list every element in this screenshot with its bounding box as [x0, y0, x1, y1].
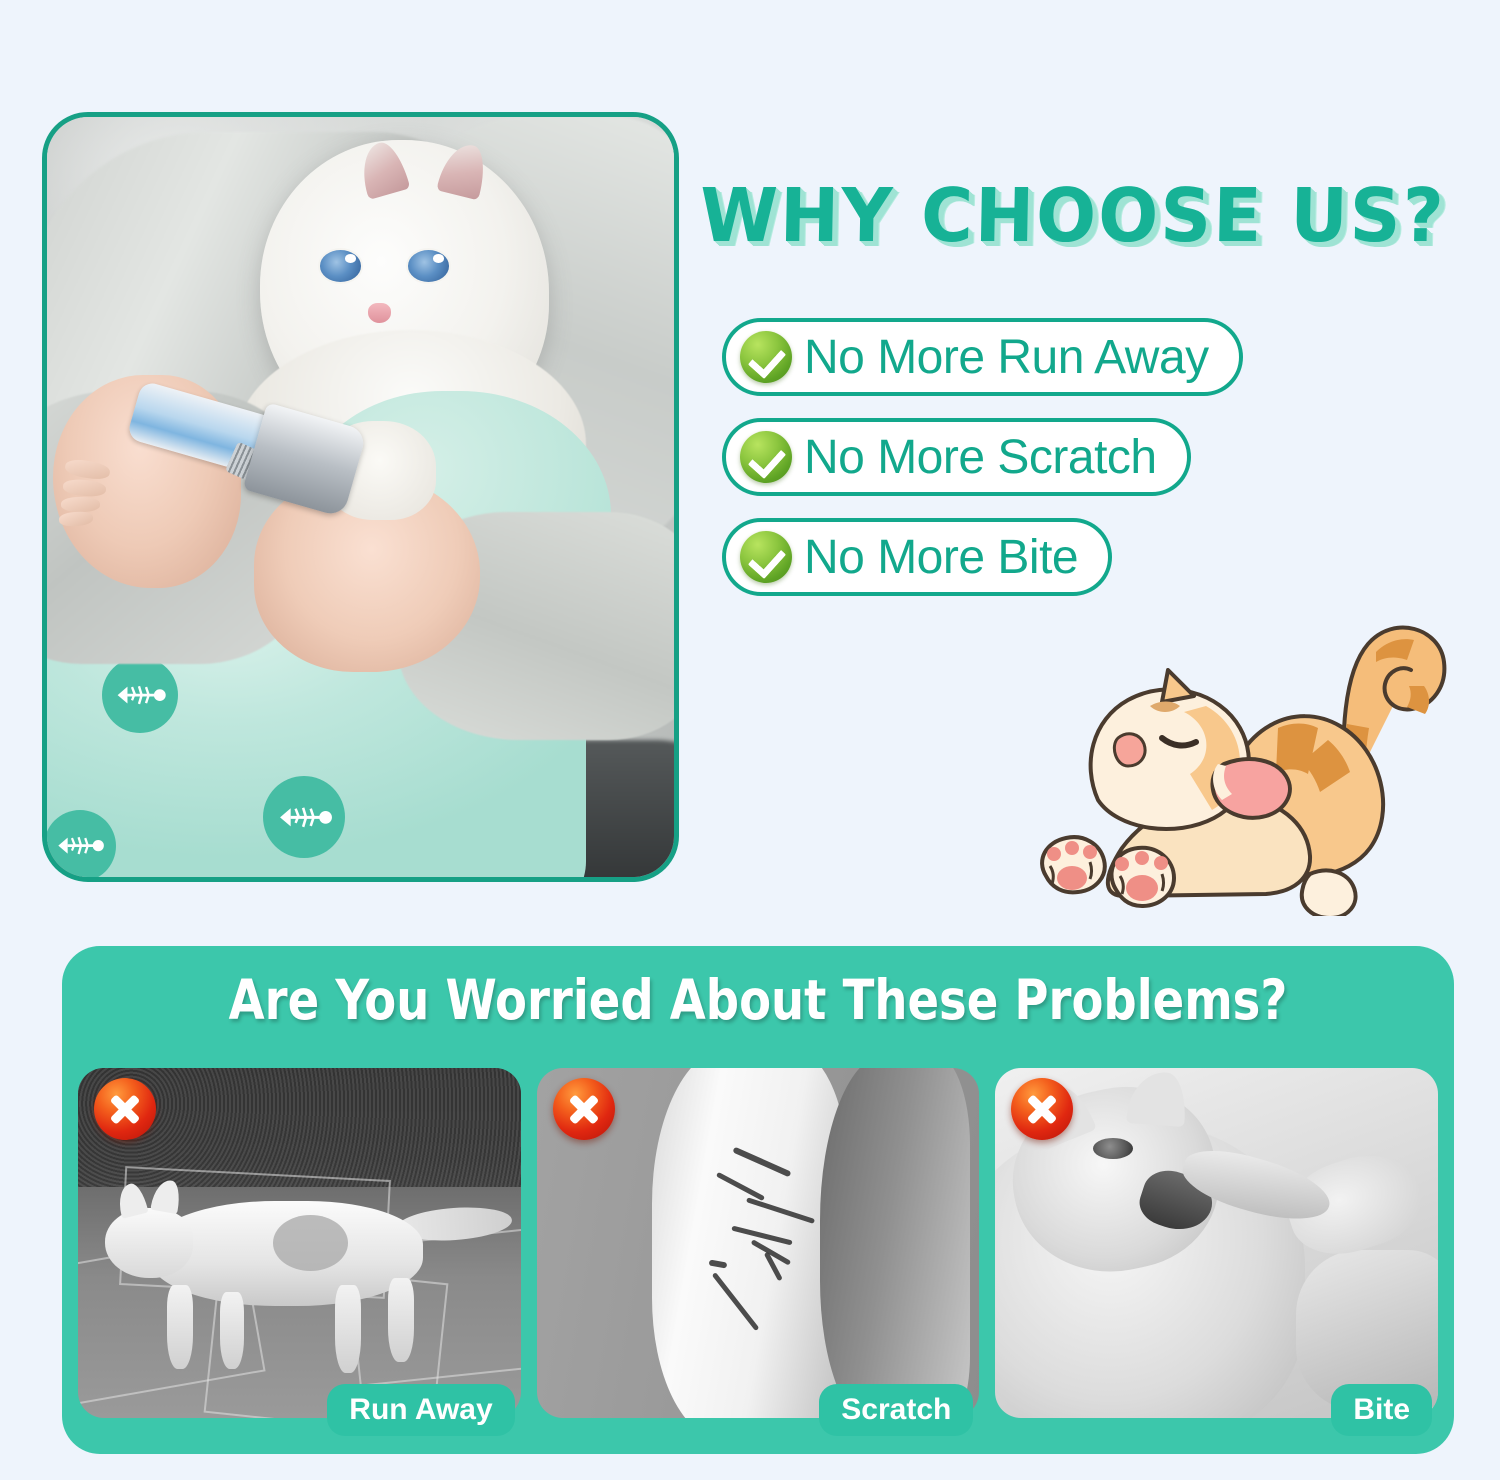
check-circle-icon: [740, 331, 792, 383]
benefit-label: No More Bite: [804, 530, 1078, 585]
x-circle-icon: [553, 1078, 615, 1140]
problem-card-bite[interactable]: Bite: [995, 1068, 1438, 1418]
banner-title: Are You Worried About These Problems?: [104, 968, 1412, 1032]
check-circle-icon: [740, 431, 792, 483]
problem-card-run-away[interactable]: Run Away: [78, 1068, 521, 1418]
problem-card-scratch[interactable]: Scratch: [537, 1068, 980, 1418]
problem-label: Run Away: [327, 1384, 514, 1436]
x-circle-icon: [94, 1078, 156, 1140]
product-infographic: WHY CHOOSE US? No More Run Away No More …: [0, 0, 1500, 1480]
cartoon-orange-cat-icon: [1010, 586, 1480, 916]
problem-label: Bite: [1331, 1384, 1432, 1436]
benefit-item-bite[interactable]: No More Bite: [722, 518, 1112, 596]
page-title: WHY CHOOSE US?: [699, 168, 1500, 264]
problem-list: Run Away: [78, 1068, 1438, 1438]
x-circle-icon: [1011, 1078, 1073, 1140]
check-circle-icon: [740, 531, 792, 583]
hero-photo: [42, 112, 679, 882]
benefit-list: No More Run Away No More Scratch No More…: [722, 318, 1243, 618]
benefit-label: No More Scratch: [804, 430, 1157, 485]
benefit-label: No More Run Away: [804, 330, 1209, 385]
problem-label: Scratch: [819, 1384, 973, 1436]
benefit-item-scratch[interactable]: No More Scratch: [722, 418, 1191, 496]
benefit-item-run-away[interactable]: No More Run Away: [722, 318, 1243, 396]
problems-banner: Are You Worried About These Problems?: [62, 946, 1454, 1454]
